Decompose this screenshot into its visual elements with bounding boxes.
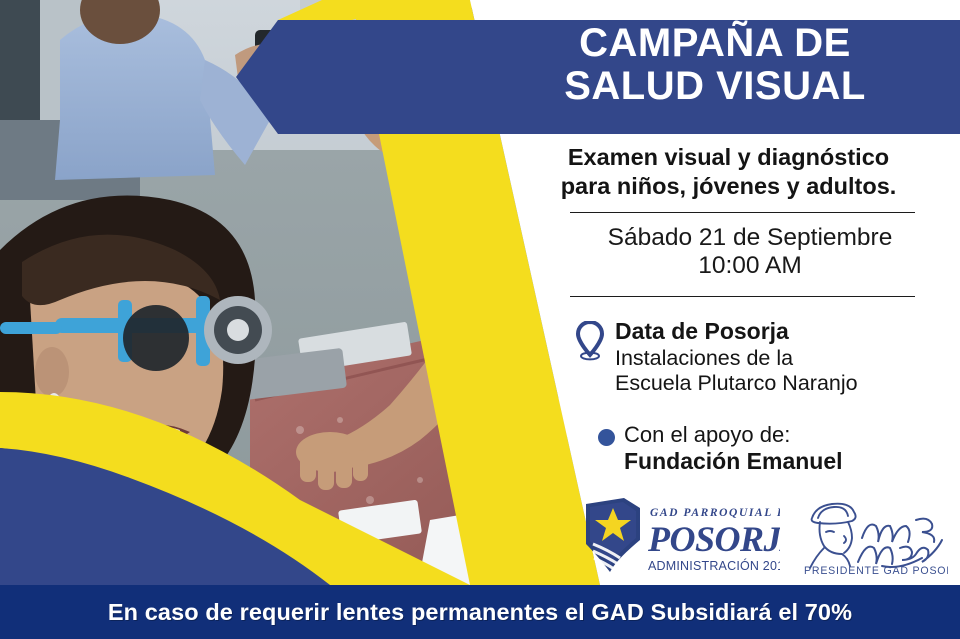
support-info: Con el apoyo de: Fundación Emanuel <box>598 422 960 475</box>
divider-above-date <box>570 212 915 213</box>
bottom-banner: En caso de requerir lentes permanentes e… <box>0 585 960 639</box>
location-line-1: Instalaciones de la <box>615 346 858 372</box>
location-line-2: Escuela Plutarco Naranjo <box>615 371 858 397</box>
support-org: Fundación Emanuel <box>624 448 843 475</box>
logo-posorja-bottom-text: ADMINISTRACIÓN 2019 - 2023 <box>648 558 780 573</box>
title-line-2: SALUD VISUAL <box>470 65 960 108</box>
subtitle-line-1: Examen visual y diagnóstico <box>497 143 960 172</box>
logo-president: PRESIDENTE GAD POSORJA <box>796 496 948 576</box>
support-label: Con el apoyo de: <box>624 422 843 448</box>
logo-president-caption: PRESIDENTE GAD POSORJA <box>804 565 948 576</box>
logo-posorja: GAD PARROQUIAL RURAL POSORJA ADMINISTRAC… <box>580 494 780 578</box>
logo-posorja-top-text: GAD PARROQUIAL RURAL <box>650 507 780 519</box>
location-name: Data de Posorja <box>615 318 858 346</box>
location-text: Data de Posorja Instalaciones de la Escu… <box>615 318 858 397</box>
subtitle-line-2: para niños, jóvenes y adultos. <box>497 172 960 201</box>
title-line-1: CAMPAÑA DE <box>470 22 960 65</box>
page-title: CAMPAÑA DE SALUD VISUAL <box>470 22 960 108</box>
subtitle: Examen visual y diagnóstico para niños, … <box>497 143 960 200</box>
event-datetime: Sábado 21 de Septiembre 10:00 AM <box>540 224 960 281</box>
event-location: Data de Posorja Instalaciones de la Escu… <box>575 318 960 397</box>
logo-row: GAD PARROQUIAL RURAL POSORJA ADMINISTRAC… <box>580 492 960 580</box>
bullet-dot-icon <box>598 429 615 446</box>
shield-star-icon <box>586 498 640 572</box>
poster-root: CAMPAÑA DE SALUD VISUAL Examen visual y … <box>0 0 960 639</box>
divider-below-date <box>570 296 915 297</box>
bottom-banner-text: En caso de requerir lentes permanentes e… <box>108 599 852 626</box>
logo-posorja-main-text: POSORJA <box>647 519 780 559</box>
event-time: 10:00 AM <box>540 252 960 280</box>
man-with-hat-icon <box>810 504 856 568</box>
event-date: Sábado 21 de Septiembre <box>540 224 960 252</box>
map-pin-icon <box>575 321 605 366</box>
support-text: Con el apoyo de: Fundación Emanuel <box>624 422 843 475</box>
